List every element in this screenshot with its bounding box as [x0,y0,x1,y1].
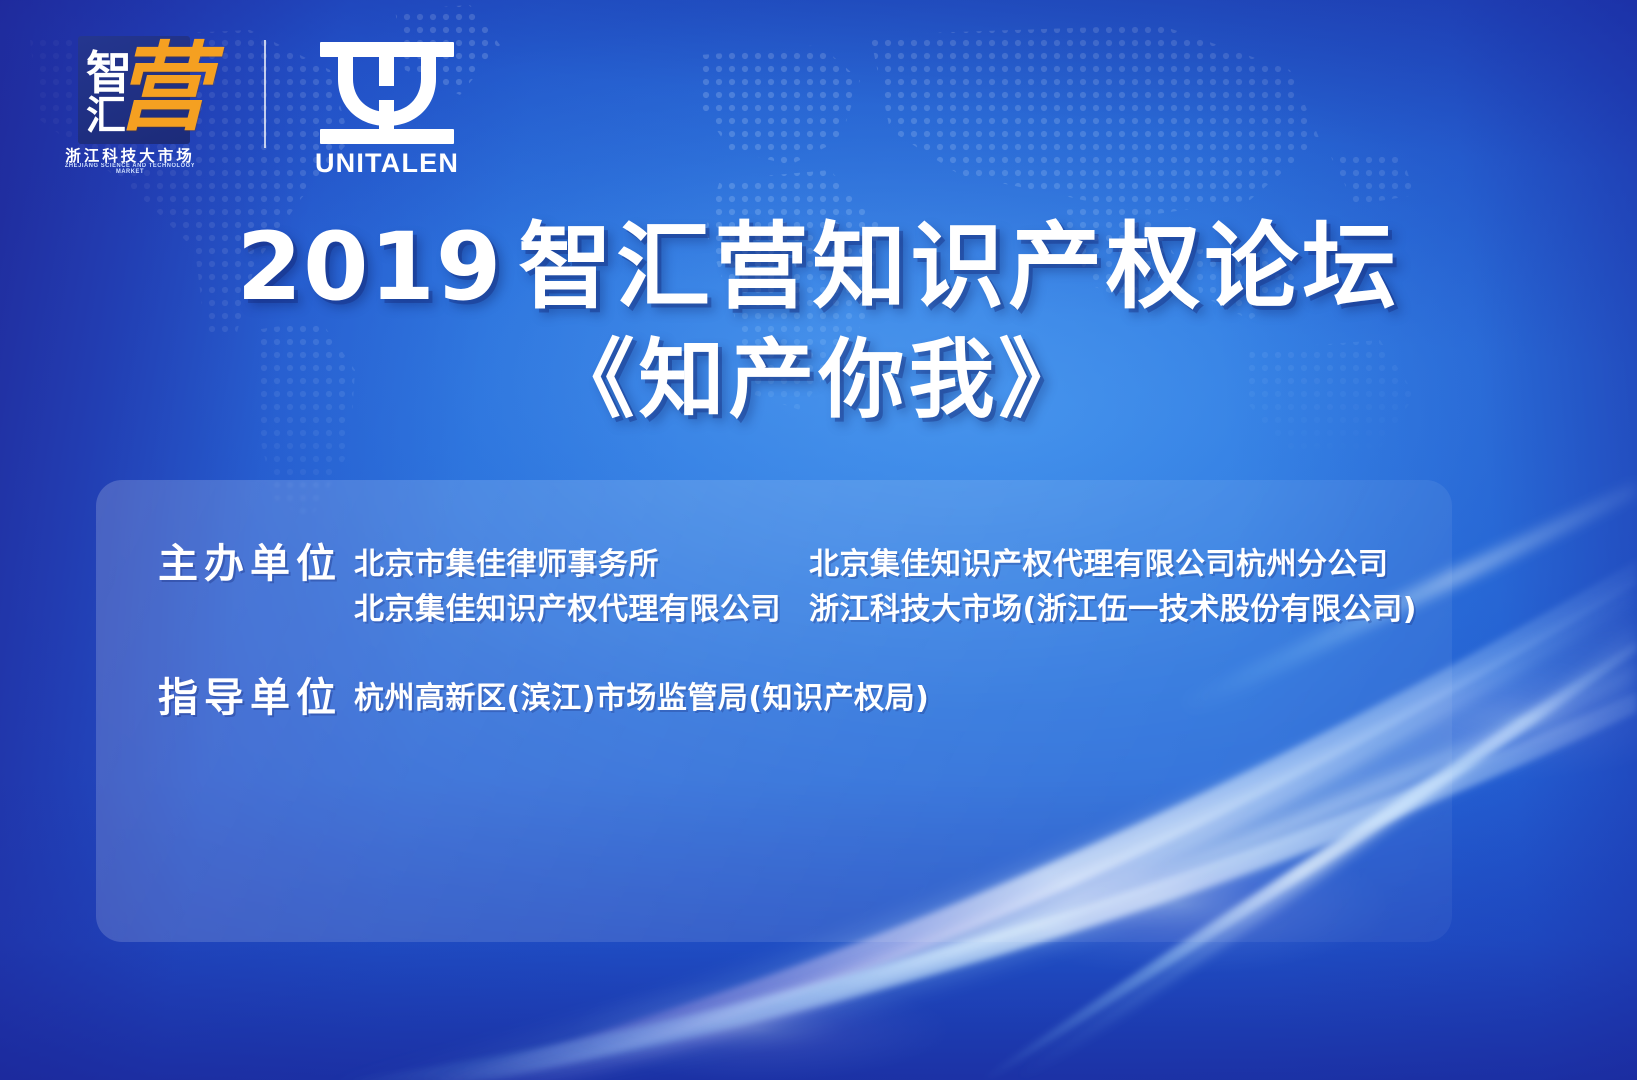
info-rows: 主办单位 北京市集佳律师事务所 北京集佳知识产权代理有限公司 北京集佳知识产权代… [96,480,1452,942]
organizer-item: 北京集佳知识产权代理有限公司杭州分公司 [809,548,1429,582]
page-subtitle: 《知产你我》 [0,330,1637,430]
unitalen-wordmark: UNITALEN [312,148,462,179]
organizer-row: 主办单位 北京市集佳律师事务所 北京集佳知识产权代理有限公司 北京集佳知识产权代… [96,542,1429,627]
unitalen-logo: UNITALEN [312,36,462,176]
guidance-label: 指导单位 [96,676,354,720]
unitalen-glyph-icon [318,40,456,151]
logo-divider [264,40,266,148]
organizer-item: 北京市集佳律师事务所 [354,548,809,582]
guidance-column-left: 杭州高新区(滨江)市场监管局(知识产权局) [354,682,929,716]
guidance-row: 指导单位 杭州高新区(滨江)市场监管局(知识产权局) [96,676,929,720]
organizer-item: 北京集佳知识产权代理有限公司 [354,593,809,627]
organizer-columns: 北京市集佳律师事务所 北京集佳知识产权代理有限公司 北京集佳知识产权代理有限公司… [354,542,1429,627]
poster-canvas: 智 汇 营 浙江科技大市场 ZHEJIANG SCIENCE AND TECHN… [0,0,1637,1080]
title-year: 2019 [237,213,503,322]
organizer-label: 主办单位 [96,542,354,586]
logo-row: 智 汇 营 浙江科技大市场 ZHEJIANG SCIENCE AND TECHN… [56,36,462,176]
title-main-text: 智汇营知识产权论坛 [518,213,1400,322]
organizer-column-right: 北京集佳知识产权代理有限公司杭州分公司 浙江科技大市场(浙江伍一技术股份有限公司… [809,548,1429,627]
guidance-item: 杭州高新区(滨江)市场监管局(知识产权局) [354,682,929,716]
zhihuiying-logo: 智 汇 营 浙江科技大市场 ZHEJIANG SCIENCE AND TECHN… [56,36,204,176]
zhihuiying-en-name: ZHEJIANG SCIENCE AND TECHNOLOGY MARKET [59,163,201,175]
guidance-columns: 杭州高新区(滨江)市场监管局(知识产权局) [354,676,929,716]
page-title: 2019智汇营知识产权论坛 [0,216,1637,320]
zhihuiying-char-ying: 营 [114,40,210,136]
organizer-column-left: 北京市集佳律师事务所 北京集佳知识产权代理有限公司 [354,548,809,627]
organizer-item: 浙江科技大市场(浙江伍一技术股份有限公司) [809,593,1429,627]
